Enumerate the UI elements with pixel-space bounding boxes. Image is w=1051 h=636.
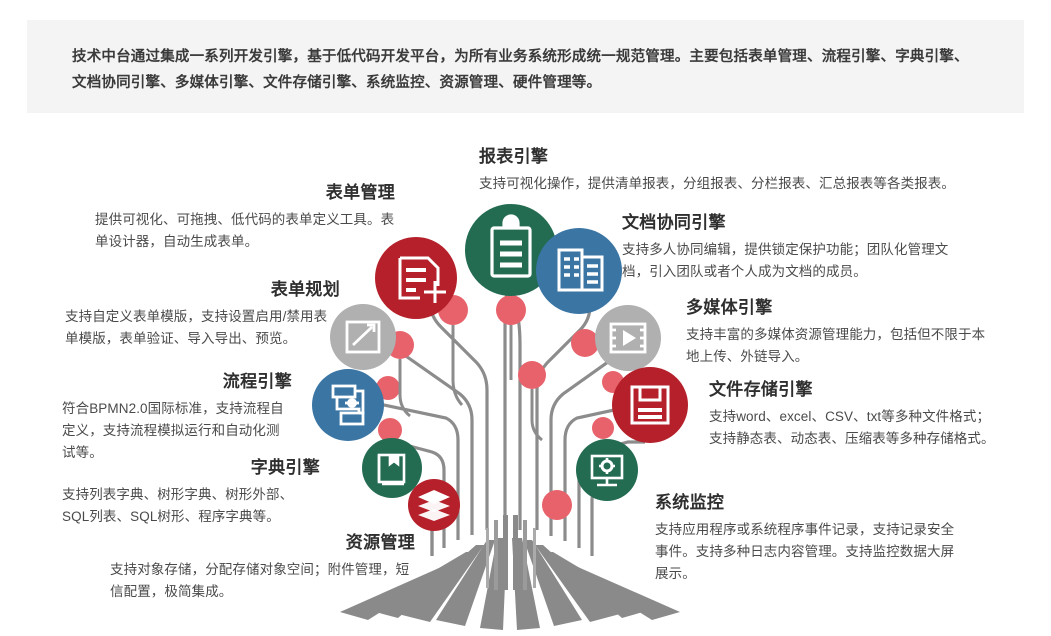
- title-file-storage-engine: 文件存储引擎: [709, 379, 999, 401]
- desc-file-storage-engine: 支持word、excel、CSV、txt等多种文件格式；支持静态表、动态表、压缩…: [709, 406, 999, 450]
- desc-form-planning: 支持自定义表单模版，支持设置启用/禁用表单模版，表单验证、导入导出、预览。: [65, 306, 340, 350]
- desc-document-collaboration-engine: 支持多人协同编辑，提供锁定保护功能；团队化管理文档，引入团队或者个人成为文档的成…: [622, 239, 974, 283]
- title-form-management: 表单管理: [95, 182, 395, 204]
- icon-node-file-storage-engine[interactable]: [612, 367, 688, 443]
- desc-process-engine: 符合BPMN2.0国际标准，支持流程自定义，支持流程模拟运行和自动化测试等。: [62, 398, 292, 464]
- icon-node-multimedia-engine[interactable]: [595, 305, 661, 371]
- icon-node-dictionary-engine[interactable]: [362, 438, 422, 498]
- block-document-collaboration-engine: 文档协同引擎 支持多人协同编辑，提供锁定保护功能；团队化管理文档，引入团队或者个…: [622, 212, 974, 283]
- desc-multimedia-engine: 支持丰富的多媒体资源管理能力，包括但不限于本地上传、外链导入。: [686, 324, 986, 368]
- icon-node-process-engine[interactable]: [312, 369, 384, 441]
- block-form-management: 表单管理 提供可视化、可拖拽、低代码的表单定义工具。表单设计器，自动生成表单。: [95, 182, 395, 253]
- title-report-engine: 报表引擎: [479, 146, 1019, 168]
- desc-form-management: 提供可视化、可拖拽、低代码的表单定义工具。表单设计器，自动生成表单。: [95, 209, 395, 253]
- infographic-page: 技术中台通过集成一系列开发引擎，基于低代码开发平台，为所有业务系统形成统一规范管…: [0, 0, 1051, 636]
- title-form-planning: 表单规划: [65, 279, 340, 301]
- block-system-monitor: 系统监控 支持应用程序或系统程序事件记录，支持记录安全事件。支持多种日志内容管理…: [655, 492, 965, 585]
- title-system-monitor: 系统监控: [655, 492, 965, 514]
- icon-node-document-collaboration-engine[interactable]: [536, 228, 622, 314]
- desc-system-monitor: 支持应用程序或系统程序事件记录，支持记录安全事件。支持多种日志内容管理。支持监控…: [655, 519, 965, 585]
- block-file-storage-engine: 文件存储引擎 支持word、excel、CSV、txt等多种文件格式；支持静态表…: [709, 379, 999, 450]
- desc-resource-management: 支持对象存储，分配存储对象空间；附件管理，短信配置，极简集成。: [110, 559, 415, 603]
- title-process-engine: 流程引擎: [62, 371, 292, 393]
- block-dictionary-engine: 字典引擎 支持列表字典、树形字典、树形外部、SQL列表、SQL树形、程序字典等。: [62, 457, 320, 528]
- block-resource-management: 资源管理 支持对象存储，分配存储对象空间；附件管理，短信配置，极简集成。: [110, 532, 415, 603]
- desc-dictionary-engine: 支持列表字典、树形字典、树形外部、SQL列表、SQL树形、程序字典等。: [62, 484, 320, 528]
- title-dictionary-engine: 字典引擎: [62, 457, 320, 479]
- block-report-engine: 报表引擎 支持可视化操作，提供清单报表，分组报表、分栏报表、汇总报表等各类报表。: [479, 146, 1019, 195]
- desc-report-engine: 支持可视化操作，提供清单报表，分组报表、分栏报表、汇总报表等各类报表。: [479, 173, 1019, 195]
- block-multimedia-engine: 多媒体引擎 支持丰富的多媒体资源管理能力，包括但不限于本地上传、外链导入。: [686, 297, 986, 368]
- block-process-engine: 流程引擎 符合BPMN2.0国际标准，支持流程自定义，支持流程模拟运行和自动化测…: [62, 371, 292, 464]
- icon-node-system-monitor[interactable]: [576, 439, 638, 501]
- title-resource-management: 资源管理: [110, 532, 415, 554]
- block-form-planning: 表单规划 支持自定义表单模版，支持设置启用/禁用表单模版，表单验证、导入导出、预…: [65, 279, 340, 350]
- title-multimedia-engine: 多媒体引擎: [686, 297, 986, 319]
- title-document-collaboration-engine: 文档协同引擎: [622, 212, 974, 234]
- icon-node-resource-management[interactable]: [408, 479, 460, 531]
